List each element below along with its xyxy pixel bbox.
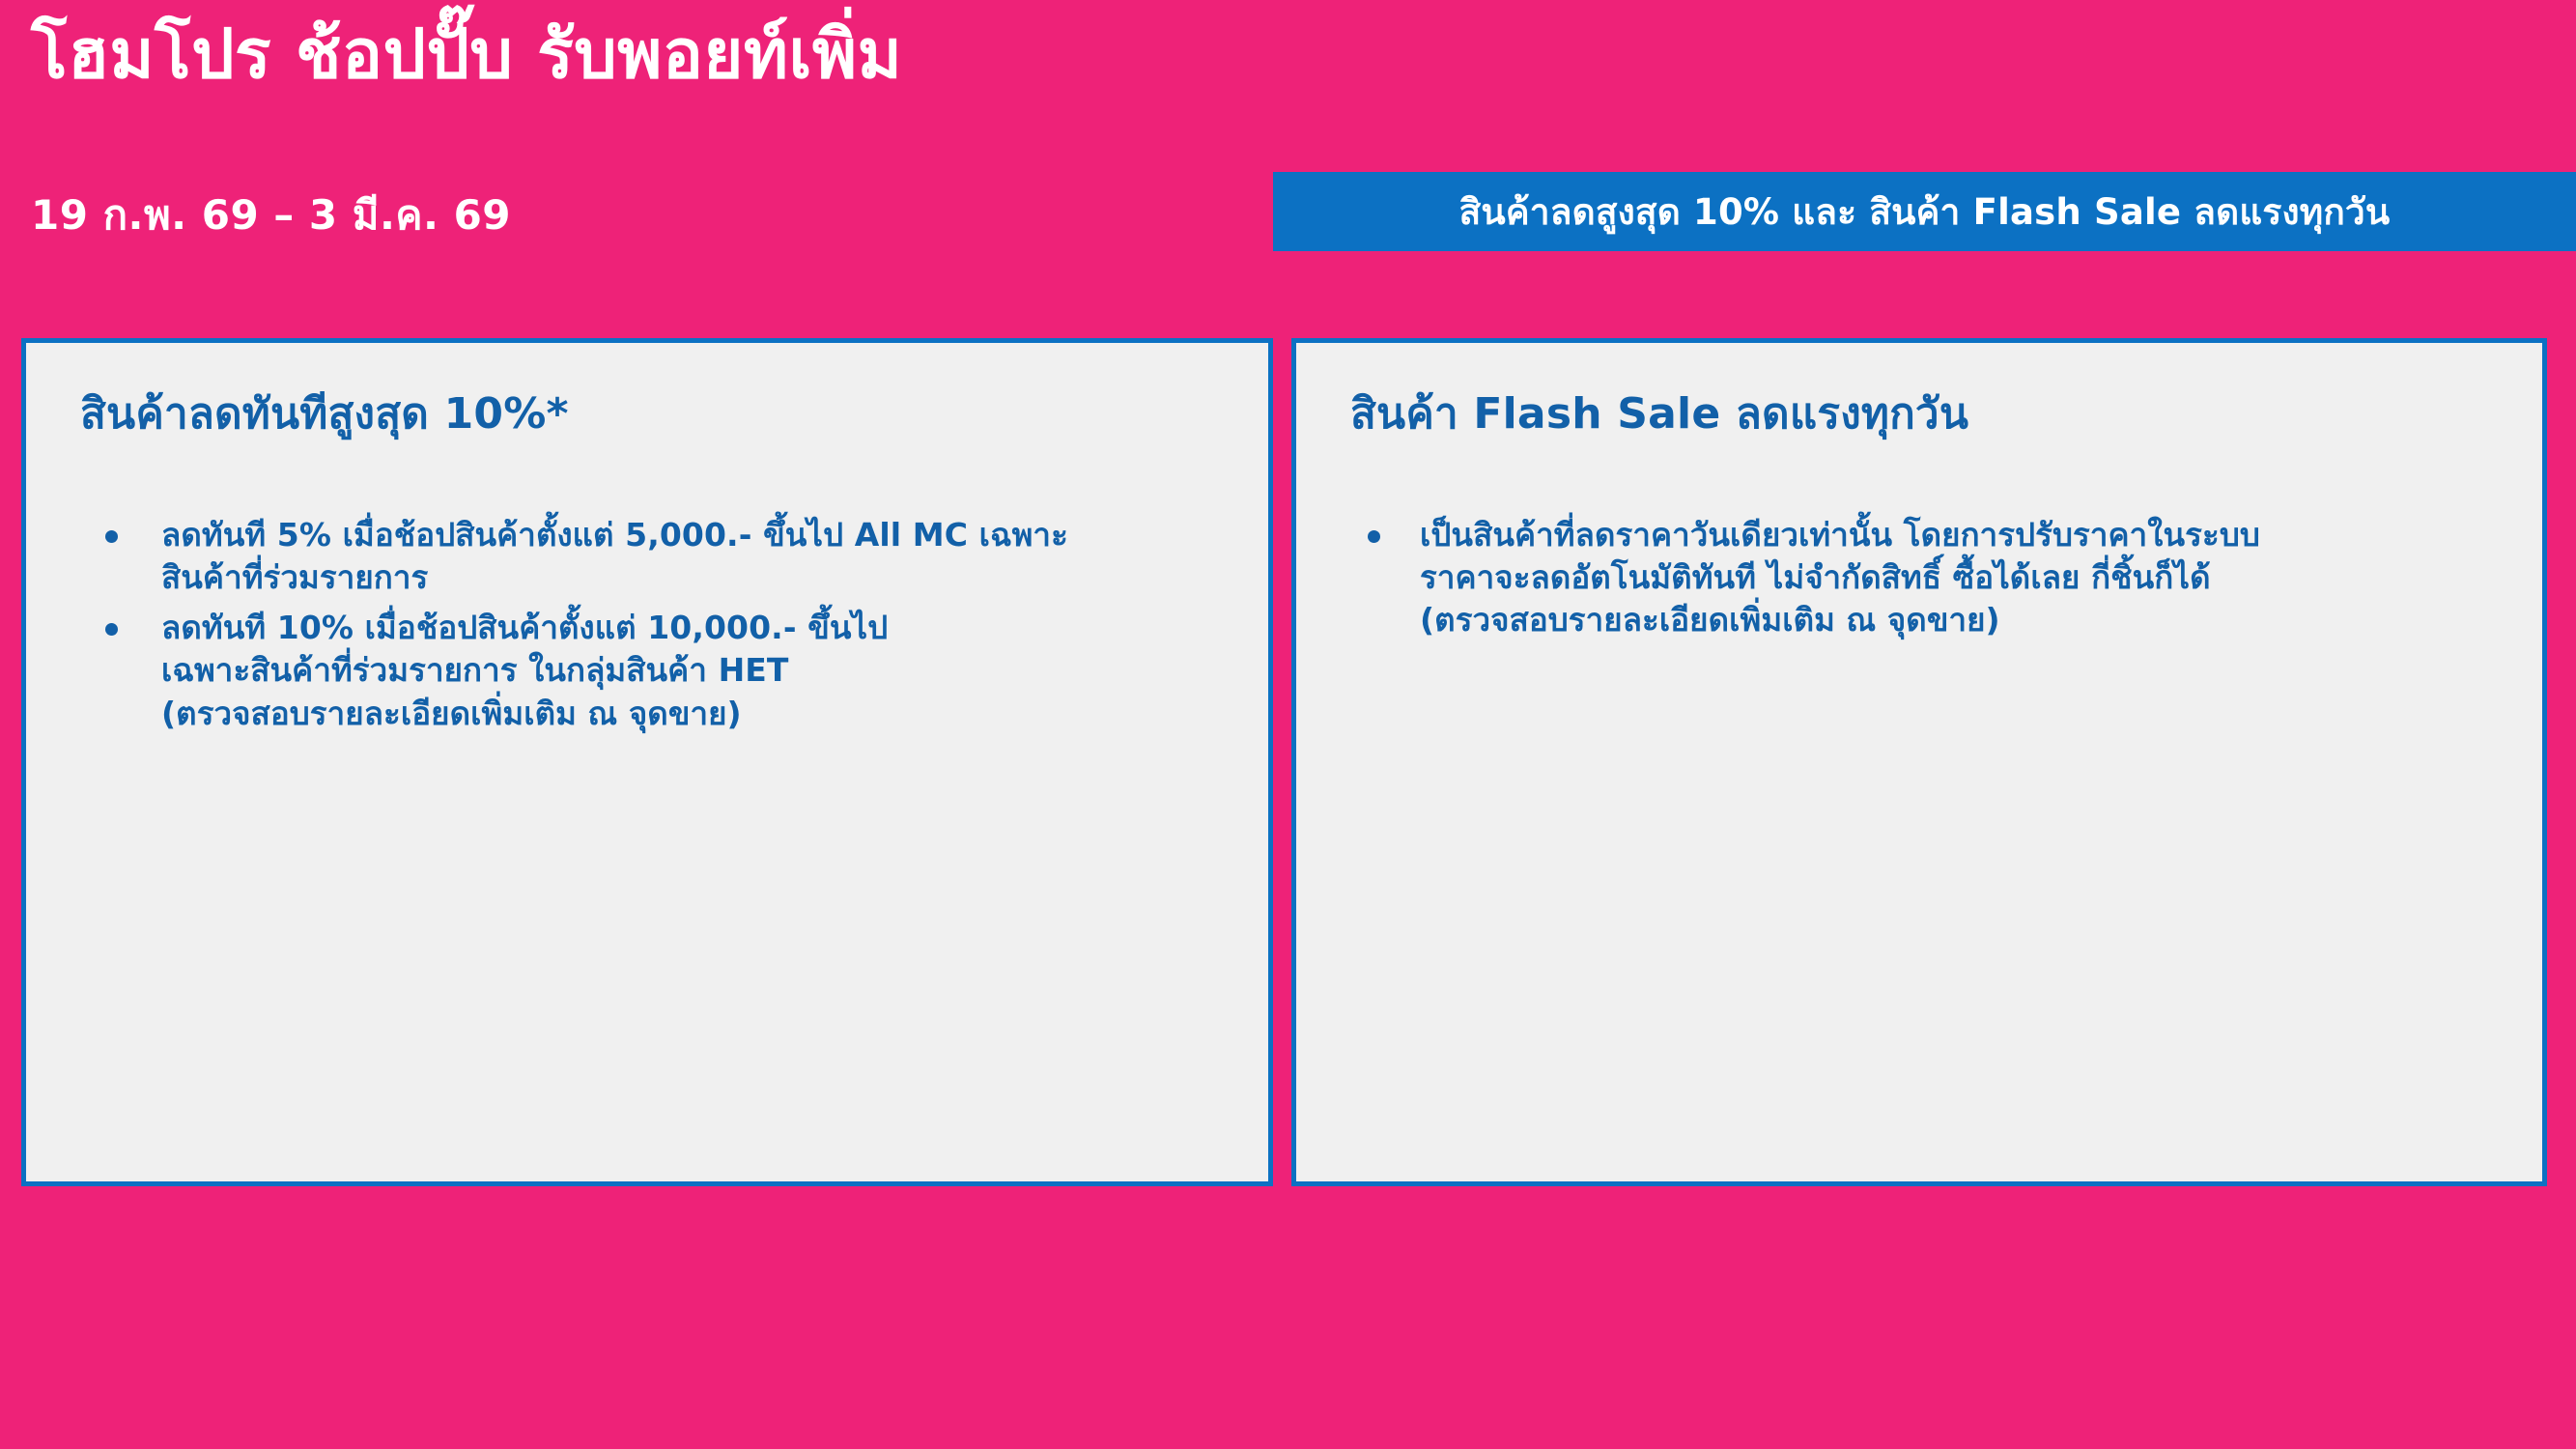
- cards-container: สินค้าลดทันทีสูงสุด 10%* ลดทันที 5% เมื่…: [0, 338, 2576, 1188]
- header: โฮมโปร ช้อปปั๊บ รับพอยท์เพิ่ม 19 ก.พ. 69…: [0, 0, 2576, 299]
- promo-banner-label: สินค้าลดสูงสุด 10% และ สินค้า Flash Sale…: [1459, 184, 2391, 241]
- bullet-dot-icon: [105, 623, 118, 636]
- promo-banner: สินค้าลดสูงสุด 10% และ สินค้า Flash Sale…: [1273, 172, 2576, 251]
- bullet-dot-icon: [1368, 530, 1380, 543]
- bullet-line: ลดทันที 5% เมื่อช้อปสินค้าตั้งแต่ 5,000.…: [161, 514, 1226, 556]
- bullet-line: เฉพาะสินค้าที่ร่วมรายการ ในกลุ่มสินค้า H…: [161, 649, 1226, 692]
- page-title: โฮมโปร ช้อปปั๊บ รับพอยท์เพิ่ม: [31, 17, 902, 92]
- list-item: เป็นสินค้าที่ลดราคาวันเดียวเท่านั้น โดยก…: [1350, 514, 2500, 642]
- bullet-line: สินค้าที่ร่วมรายการ: [161, 556, 1226, 599]
- promo-date-range: 19 ก.พ. 69 – 3 มี.ค. 69: [31, 184, 511, 247]
- bullet-line: เป็นสินค้าที่ลดราคาวันเดียวเท่านั้น โดยก…: [1420, 514, 2500, 556]
- list-item: ลดทันที 5% เมื่อช้อปสินค้าตั้งแต่ 5,000.…: [80, 514, 1226, 599]
- card-heading: สินค้าลดทันทีสูงสุด 10%*: [80, 389, 1226, 440]
- bullet-dot-icon: [105, 530, 118, 543]
- card-instant-discount: สินค้าลดทันทีสูงสุด 10%* ลดทันที 5% เมื่…: [21, 338, 1273, 1186]
- card-heading: สินค้า Flash Sale ลดแรงทุกวัน: [1350, 389, 2500, 440]
- bullet-line: ราคาจะลดอัตโนมัติทันที ไม่จำกัดสิทธิ์ ซื…: [1420, 556, 2500, 599]
- bullet-line: (ตรวจสอบรายละเอียดเพิ่มเติม ณ จุดขาย): [161, 693, 1226, 735]
- list-item: ลดทันที 10% เมื่อช้อปสินค้าตั้งแต่ 10,00…: [80, 607, 1226, 735]
- bullet-list: ลดทันที 5% เมื่อช้อปสินค้าตั้งแต่ 5,000.…: [80, 514, 1226, 735]
- promo-slide: { "colors": { "background_pink": "#EE227…: [0, 0, 2576, 1449]
- bullet-line: ลดทันที 10% เมื่อช้อปสินค้าตั้งแต่ 10,00…: [161, 607, 1226, 649]
- bullet-line: (ตรวจสอบรายละเอียดเพิ่มเติม ณ จุดขาย): [1420, 599, 2500, 641]
- bullet-list: เป็นสินค้าที่ลดราคาวันเดียวเท่านั้น โดยก…: [1350, 514, 2500, 642]
- card-flash-sale: สินค้า Flash Sale ลดแรงทุกวัน เป็นสินค้า…: [1291, 338, 2547, 1186]
